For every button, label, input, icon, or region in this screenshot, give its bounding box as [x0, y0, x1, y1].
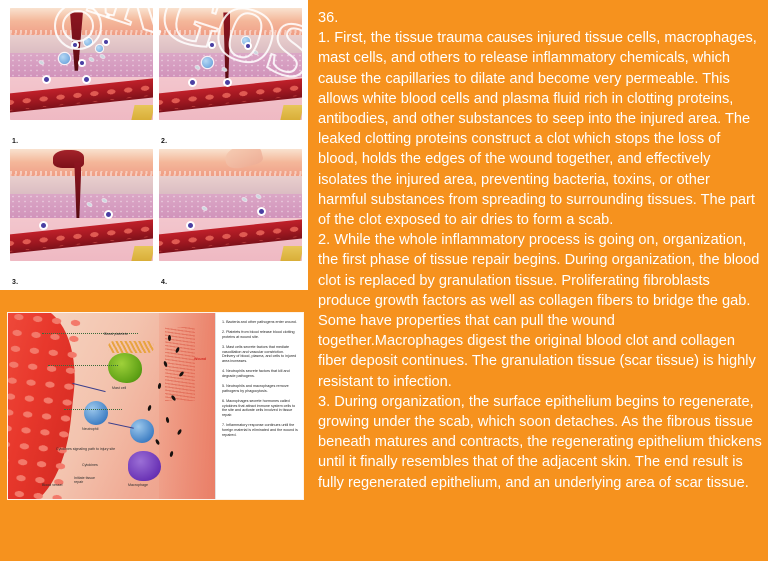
- mast-cell-shape: [108, 353, 142, 383]
- legend-item-5: 5. Neutrophils and macrophages remove pa…: [222, 384, 298, 394]
- stage-2-illustration: [159, 8, 302, 120]
- label-mast-cell: Mast cell: [112, 386, 126, 390]
- label-macrophage: Macrophage: [128, 483, 148, 487]
- label-cytokine-path: Cytokines signaling path to injury site: [56, 447, 115, 451]
- question-number: 36.: [318, 8, 762, 28]
- label-blood-vessel: Blood vessel: [42, 483, 62, 487]
- answer-paragraph-3: 3. During organization, the surface epit…: [318, 392, 762, 493]
- stage-figure-1: 1.: [10, 8, 153, 145]
- answer-text-column: 36. 1. First, the tissue trauma causes i…: [318, 8, 762, 553]
- left-illustration-column: 1.: [0, 0, 310, 561]
- stage-1-caption: 1.: [12, 138, 18, 145]
- diagram-artwork: Blood platelets Mast cell Neutrophil Mac…: [8, 313, 215, 499]
- label-wound: Wound: [194, 357, 206, 361]
- neutrophil-shape-2: [130, 419, 154, 443]
- label-initiate-tissue-repair: Initiate tissue repair: [74, 476, 104, 485]
- macrophage-shape: [128, 451, 161, 481]
- stage-figure-4: 4.: [159, 149, 302, 286]
- legend-item-4: 4. Neutrophils secrete factors that kill…: [222, 369, 298, 379]
- blood-vessel-shape: [8, 313, 82, 499]
- label-blood-platelets: Blood platelets: [104, 332, 128, 336]
- stage-1-illustration: [10, 8, 153, 120]
- legend-item-2: 2. Platelets from blood release blood cl…: [222, 330, 298, 340]
- stage-3-caption: 3.: [12, 279, 18, 286]
- stage-2-caption: 2.: [161, 138, 167, 145]
- legend-item-1: 1. Bacteria and other pathogens enter wo…: [222, 320, 298, 325]
- diagram-legend: 1. Bacteria and other pathogens enter wo…: [215, 313, 303, 499]
- wound-healing-stages-panel: 1.: [0, 0, 308, 290]
- stage-3-illustration: [10, 149, 153, 261]
- label-cytokines: Cytokines: [82, 463, 98, 467]
- legend-item-6: 6. Macrophages secrete hormones called c…: [222, 399, 298, 419]
- stage-figure-grid: 1.: [10, 8, 302, 286]
- answer-paragraph-1: 1. First, the tissue trauma causes injur…: [318, 28, 762, 230]
- label-neutrophil: Neutrophil: [82, 427, 98, 431]
- answer-paragraph-2: 2. While the whole inflammatory process …: [318, 230, 762, 392]
- legend-item-3: 3. Mast cells secrete factors that media…: [222, 345, 298, 365]
- slide-root: 1.: [0, 0, 768, 561]
- blood-platelets-shape: [108, 341, 154, 353]
- inflammatory-response-diagram: Blood platelets Mast cell Neutrophil Mac…: [8, 313, 303, 499]
- stage-figure-2: 2.: [159, 8, 302, 145]
- stage-4-illustration: [159, 149, 302, 261]
- stage-figure-3: 3.: [10, 149, 153, 286]
- legend-item-7: 7. Inflammatory response continues until…: [222, 423, 298, 438]
- neutrophil-shape: [84, 401, 108, 425]
- wound-tissue-edge: [159, 313, 215, 499]
- stage-4-caption: 4.: [161, 279, 167, 286]
